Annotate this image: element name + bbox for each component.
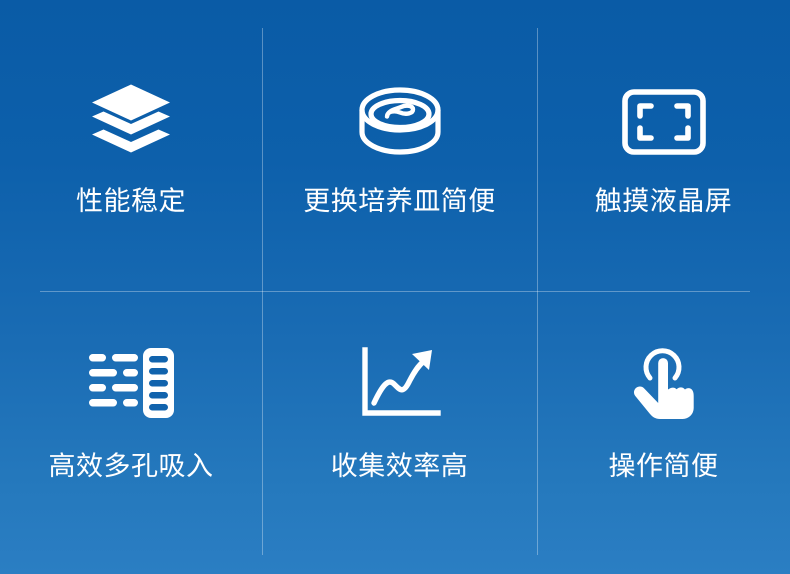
feature-cell-simple-operation[interactable]: 操作简便: [537, 291, 790, 574]
feature-label: 高效多孔吸入: [49, 453, 214, 480]
feature-label: 收集效率高: [331, 453, 469, 480]
feature-cell-stable-performance[interactable]: 性能稳定: [0, 0, 262, 291]
feature-highlight-board: 性能稳定 更换培养皿简便: [0, 0, 790, 574]
layers-stack-icon: [0, 84, 262, 160]
tap-hand-icon: [537, 345, 790, 421]
porous-intake-icon: [0, 345, 262, 421]
feature-label: 更换培养皿简便: [303, 188, 496, 215]
feature-cell-porous-intake[interactable]: 高效多孔吸入: [0, 291, 262, 574]
feature-grid: 性能稳定 更换培养皿简便: [0, 0, 790, 574]
feature-label: 操作简便: [609, 453, 719, 480]
feature-label: 性能稳定: [76, 188, 186, 215]
feature-cell-easy-dish-change[interactable]: 更换培养皿简便: [262, 0, 537, 291]
touchscreen-icon: [537, 84, 790, 160]
feature-cell-collection-rate[interactable]: 收集效率高: [262, 291, 537, 574]
feature-cell-touch-lcd-screen[interactable]: 触摸液晶屏: [537, 0, 790, 291]
petri-dish-icon: [262, 84, 537, 160]
rising-chart-icon: [262, 345, 537, 421]
feature-label: 触摸液晶屏: [595, 188, 733, 215]
